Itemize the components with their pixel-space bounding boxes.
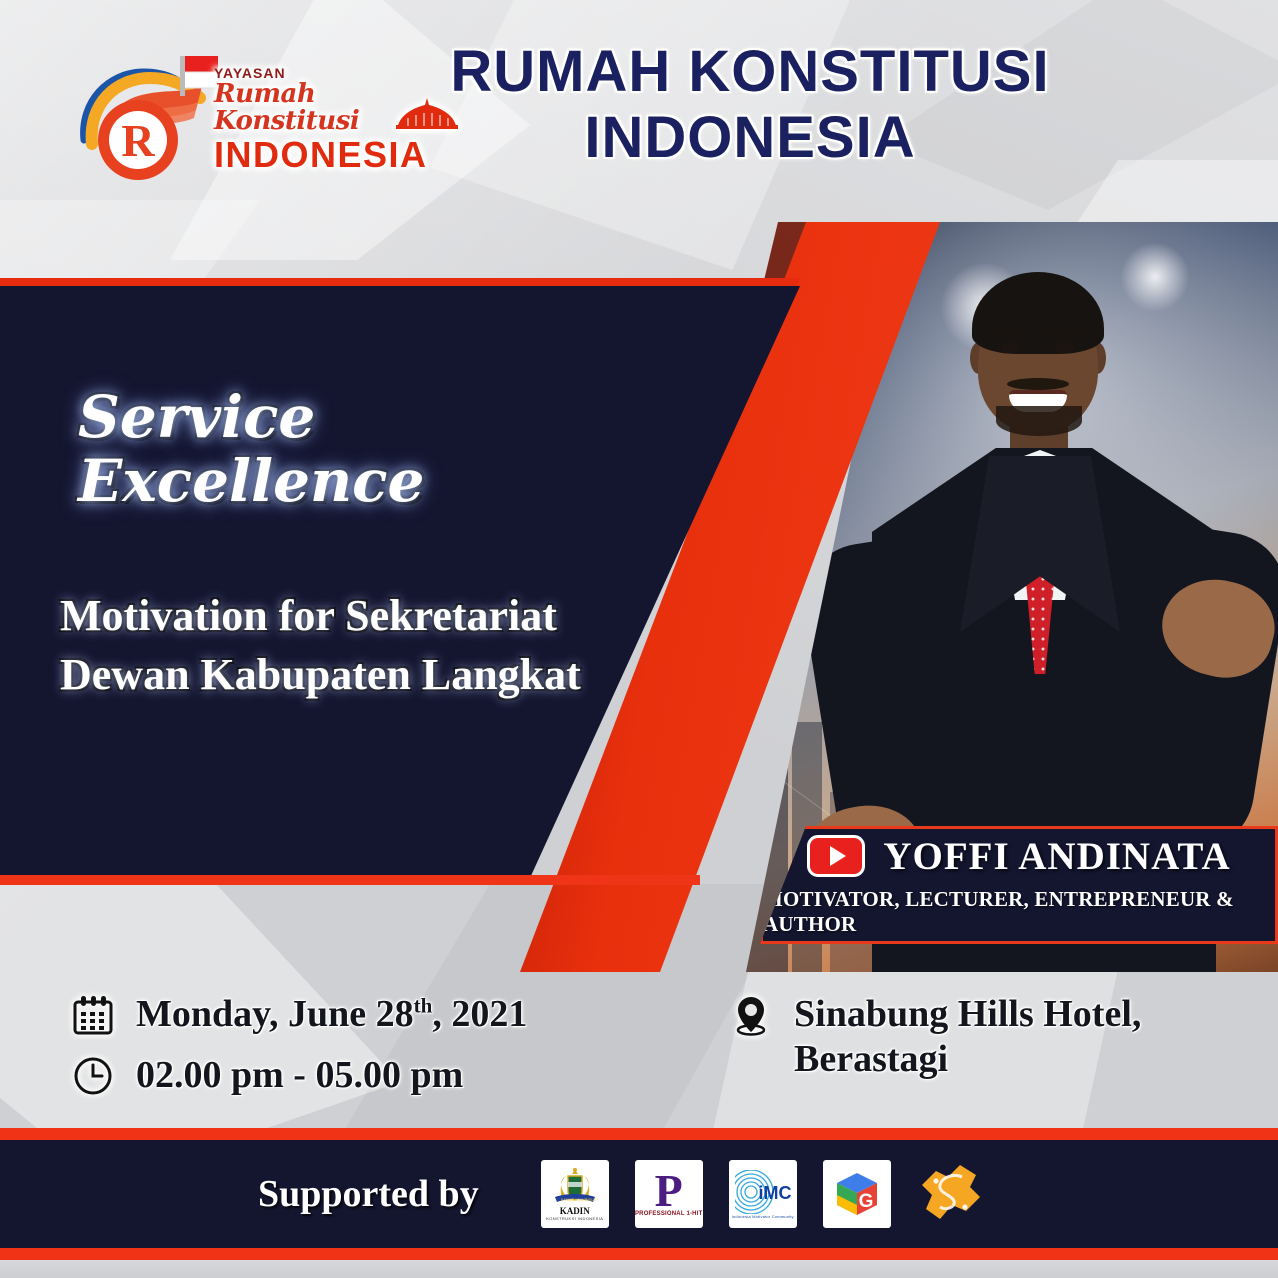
navy-panel-top-rule [0, 278, 800, 287]
footer-edge-strip [0, 1260, 1278, 1278]
sponsor-logo-professional[interactable]: P PROFESSIONAL 1-HIT [635, 1160, 703, 1228]
imc-ripple-icon: iMC [735, 1170, 791, 1214]
sponsor-kadin-name: KADIN [560, 1207, 590, 1216]
speaker-eye-left [1000, 342, 1020, 353]
event-time: 02.00 pm - 05.00 pm [136, 1053, 463, 1098]
speaker-moustache [1007, 378, 1069, 390]
title-line-2: INDONESIA [400, 103, 1100, 173]
youtube-play-triangle [830, 846, 846, 866]
event-subtitle-line-1: Motivation for Sekretariat [60, 586, 620, 645]
yellow-s-badge-icon [918, 1161, 984, 1227]
sponsor-kadin-subtitle: KONSTRUKSI INDONESIA [546, 1216, 603, 1221]
g-cube-icon: G [832, 1169, 882, 1219]
event-poster: R YAYASAN Rumah Konstitusi INDONESIA [0, 0, 1278, 1278]
map-pin-icon [730, 994, 772, 1036]
sponsor-logo-kadin[interactable]: KAMAR DAGANG INDUSTRI KADIN KONSTRUKSI I… [541, 1160, 609, 1228]
event-date-prefix: Monday, June 28 [136, 993, 414, 1035]
svg-text:INDUSTRI: INDUSTRI [585, 1198, 598, 1202]
venue-line-1: Sinabung Hills Hotel, [794, 992, 1141, 1037]
event-venue-row: Sinabung Hills Hotel, Berastagi [730, 992, 1270, 1082]
logo-line-rumah-konstitusi: Rumah Konstitusi [214, 81, 414, 136]
event-venue-block: Sinabung Hills Hotel, Berastagi [730, 992, 1270, 1098]
kadin-crest-icon: KAMAR DAGANG INDUSTRI [552, 1167, 598, 1207]
sponsor-logo-g-cube[interactable]: G [823, 1160, 891, 1228]
svg-text:G: G [858, 1191, 873, 1212]
speaker-name: YOFFI ANDINATA [883, 834, 1230, 879]
sponsor-logo-imc[interactable]: iMC Indonesia Motivator Community [729, 1160, 797, 1228]
svg-text:R: R [121, 115, 155, 166]
footer-bottom-rule [0, 1248, 1278, 1260]
event-date: Monday, June 28th, 2021 [136, 992, 527, 1037]
calendar-icon [72, 994, 114, 1036]
speaker-hair [972, 272, 1104, 354]
poster-title: RUMAH KONSTITUSI INDONESIA [400, 42, 1100, 172]
event-venue: Sinabung Hills Hotel, Berastagi [794, 992, 1141, 1082]
professional-p-icon: P [655, 1171, 683, 1210]
sponsor-logo-row: KAMAR DAGANG INDUSTRI KADIN KONSTRUKSI I… [541, 1160, 985, 1228]
logo-wordmark: YAYASAN Rumah Konstitusi INDONESIA [214, 66, 414, 173]
event-datetime-block: Monday, June 28th, 2021 02.00 pm - 05.00… [72, 992, 692, 1114]
logo-line-yayasan: YAYASAN [214, 66, 414, 80]
logo-line-indonesia: INDONESIA [214, 137, 414, 173]
svg-text:iMC: iMC [758, 1183, 791, 1203]
flame-R-swoosh-icon: R [74, 48, 234, 188]
youtube-icon[interactable] [807, 835, 865, 877]
speaker-name-banner: YOFFI ANDINATA MOTIVATOR, LECTURER, ENTR… [760, 826, 1278, 944]
event-date-row: Monday, June 28th, 2021 [72, 992, 692, 1037]
event-date-suffix: , 2021 [432, 993, 527, 1035]
sponsor-professional-subtitle: PROFESSIONAL 1-HIT [635, 1211, 703, 1217]
navy-panel-bottom-rule [0, 875, 700, 885]
footer-top-rule [0, 1128, 1278, 1140]
supported-by-label: Supported by [258, 1172, 479, 1216]
sponsor-logo-yellow-badge[interactable] [917, 1160, 985, 1228]
event-headline: Service Excellence [78, 386, 620, 514]
venue-line-2: Berastagi [794, 1037, 1141, 1082]
event-time-row: 02.00 pm - 05.00 pm [72, 1053, 692, 1098]
sponsor-imc-subtitle: Indonesia Motivator Community [732, 1214, 794, 1219]
event-subtitle-line-2: Dewan Kabupaten Langkat [60, 645, 620, 704]
event-subtitle: Motivation for Sekretariat Dewan Kabupat… [60, 586, 620, 705]
title-line-1: RUMAH KONSTITUSI [400, 42, 1100, 103]
clock-icon [72, 1055, 114, 1097]
speaker-beard [996, 406, 1082, 436]
event-date-ordinal: th [414, 993, 433, 1017]
footer-bar: Supported by KAMAR DAGANG INDUSTRI [0, 1140, 1278, 1248]
speaker-role: MOTIVATOR, LECTURER, ENTREPRENEUR & AUTH… [763, 887, 1275, 937]
organization-logo: R YAYASAN Rumah Konstitusi INDONESIA [66, 44, 414, 194]
speaker-eye-right [1054, 342, 1074, 353]
event-text-block: Service Excellence Motivation for Sekret… [60, 386, 620, 704]
